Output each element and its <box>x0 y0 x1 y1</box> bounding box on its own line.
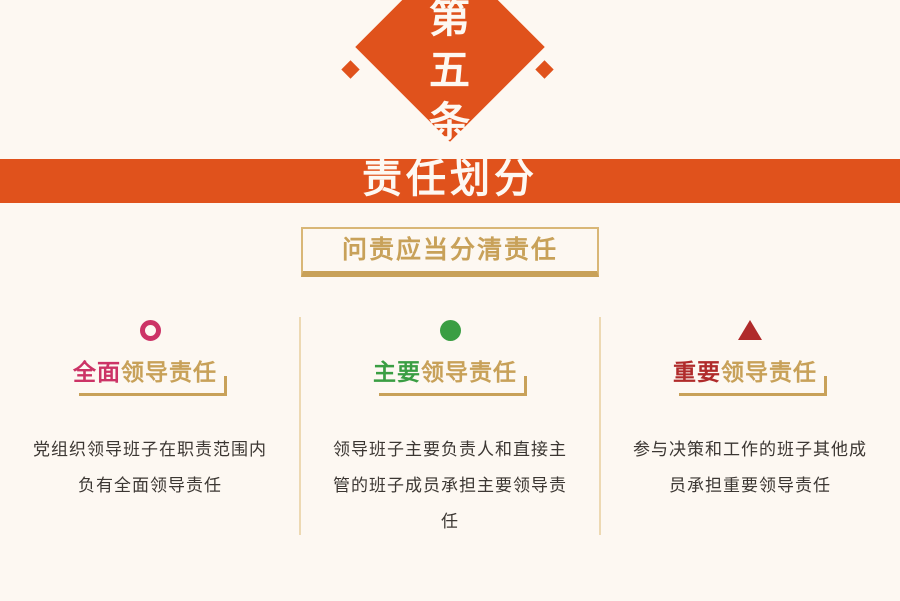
column-1-heading-rest: 领导责任 <box>121 359 217 386</box>
diamond-dot-left-icon <box>341 60 359 78</box>
column-important-responsibility: 重要领导责任 参与决策和工作的班子其他成员承担重要领导责任 <box>600 305 900 545</box>
responsibility-columns: 全面领导责任 党组织领导班子在职责范围内负有全面领导责任 主要领导责任 领导班子… <box>0 305 900 545</box>
emblem-char-1: 第 <box>429 0 471 44</box>
column-2-heading-wrap: 主要领导责任 <box>300 359 600 396</box>
column-3-heading-rest: 领导责任 <box>721 359 817 386</box>
column-1-body: 党组织领导班子在职责范围内负有全面领导责任 <box>26 432 274 504</box>
subtitle-text: 问责应当分清责任 <box>342 236 558 264</box>
column-1-icon-wrap <box>0 305 300 347</box>
emblem-area: 第 五 条 <box>0 0 900 159</box>
column-2-heading-emphasis: 主要 <box>373 359 421 386</box>
column-2-heading-rest: 领导责任 <box>421 359 517 386</box>
column-2-heading: 主要领导责任 <box>373 359 527 396</box>
column-3-icon-wrap <box>600 305 900 347</box>
ring-icon <box>140 320 161 341</box>
emblem-char-2: 五 <box>429 44 471 96</box>
circle-icon <box>440 320 461 341</box>
column-overall-responsibility: 全面领导责任 党组织领导班子在职责范围内负有全面领导责任 <box>0 305 300 545</box>
column-3-heading-wrap: 重要领导责任 <box>600 359 900 396</box>
column-1-heading-emphasis: 全面 <box>73 359 121 386</box>
column-1-heading-wrap: 全面领导责任 <box>0 359 300 396</box>
column-3-heading-emphasis: 重要 <box>673 359 721 386</box>
column-3-heading: 重要领导责任 <box>673 359 827 396</box>
section-title: 责任划分 <box>0 152 900 206</box>
emblem-article-label: 第 五 条 <box>413 0 487 152</box>
emblem-char-3: 条 <box>429 96 471 148</box>
diamond-dot-right-icon <box>535 60 553 78</box>
triangle-icon <box>738 320 762 340</box>
column-2-body: 领导班子主要负责人和直接主管的班子成员承担主要领导责任 <box>326 432 574 540</box>
column-1-heading: 全面领导责任 <box>73 359 227 396</box>
column-2-icon-wrap <box>300 305 600 347</box>
column-3-body: 参与决策和工作的班子其他成员承担重要领导责任 <box>626 432 874 504</box>
subtitle-box: 问责应当分清责任 <box>301 227 599 277</box>
column-primary-responsibility: 主要领导责任 领导班子主要负责人和直接主管的班子成员承担主要领导责任 <box>300 305 600 545</box>
